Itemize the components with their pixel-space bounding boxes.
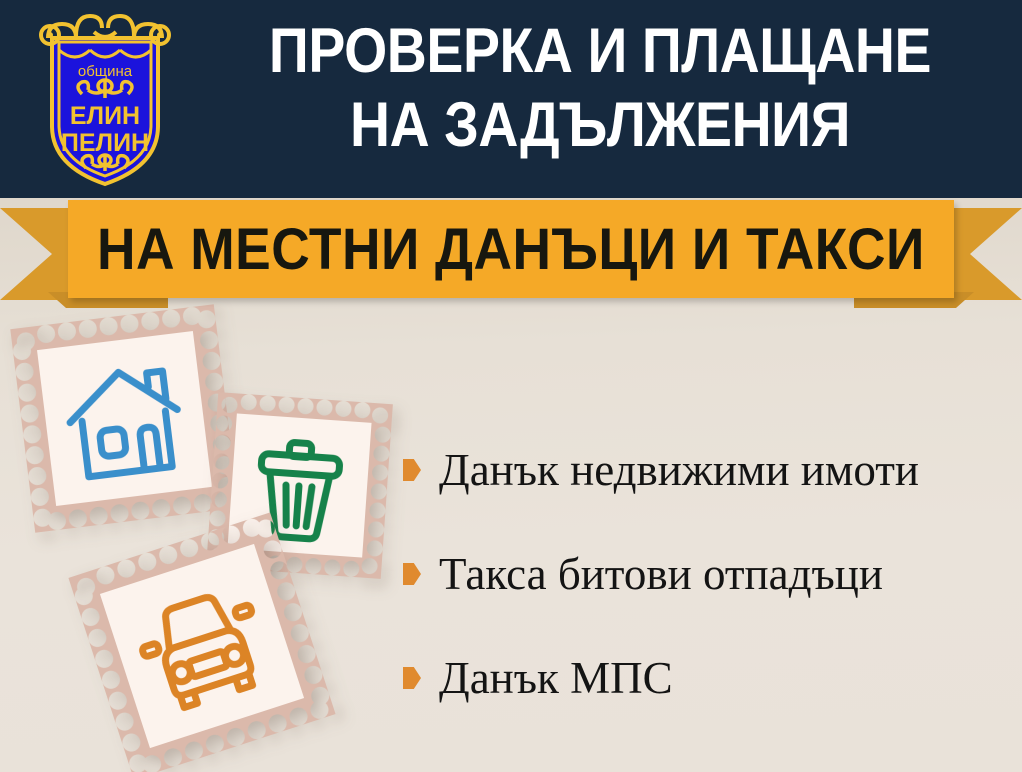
poster-canvas: НА МЕСТНИ ДАНЪЦИ И ТАКСИ ПРОВЕРКА И ПЛАЩ…	[0, 0, 1022, 772]
list-item-label: Данък МПС	[439, 656, 673, 701]
arrow-bullet-icon	[403, 459, 421, 481]
arrow-bullet-icon	[403, 667, 421, 689]
svg-text:община: община	[78, 63, 133, 80]
municipality-logo: община ЕЛИН ПЕЛИН	[30, 8, 180, 190]
stamp-card-house	[10, 304, 238, 532]
ribbon-label: НА МЕСТНИ ДАНЪЦИ И ТАКСИ	[97, 216, 925, 283]
svg-text:ЕЛИН: ЕЛИН	[70, 102, 140, 130]
list-item-label: Такса битови отпадъци	[439, 552, 883, 597]
list-item[interactable]: Такса битови отпадъци	[403, 522, 1013, 626]
tax-type-list: Данък недвижими имоти Такса битови отпад…	[403, 418, 1013, 730]
ribbon-banner: НА МЕСТНИ ДАНЪЦИ И ТАКСИ	[0, 198, 1022, 310]
svg-text:ПЕЛИН: ПЕЛИН	[61, 129, 149, 157]
arrow-bullet-icon	[403, 563, 421, 585]
list-item[interactable]: Данък МПС	[403, 626, 1013, 730]
list-item[interactable]: Данък недвижими имоти	[403, 418, 1013, 522]
page-title: ПРОВЕРКА И ПЛАЩАНЕ НА ЗАДЪЛЖЕНИЯ	[237, 14, 962, 163]
ribbon-main-panel: НА МЕСТНИ ДАНЪЦИ И ТАКСИ	[68, 200, 954, 298]
list-item-label: Данък недвижими имоти	[439, 448, 919, 493]
